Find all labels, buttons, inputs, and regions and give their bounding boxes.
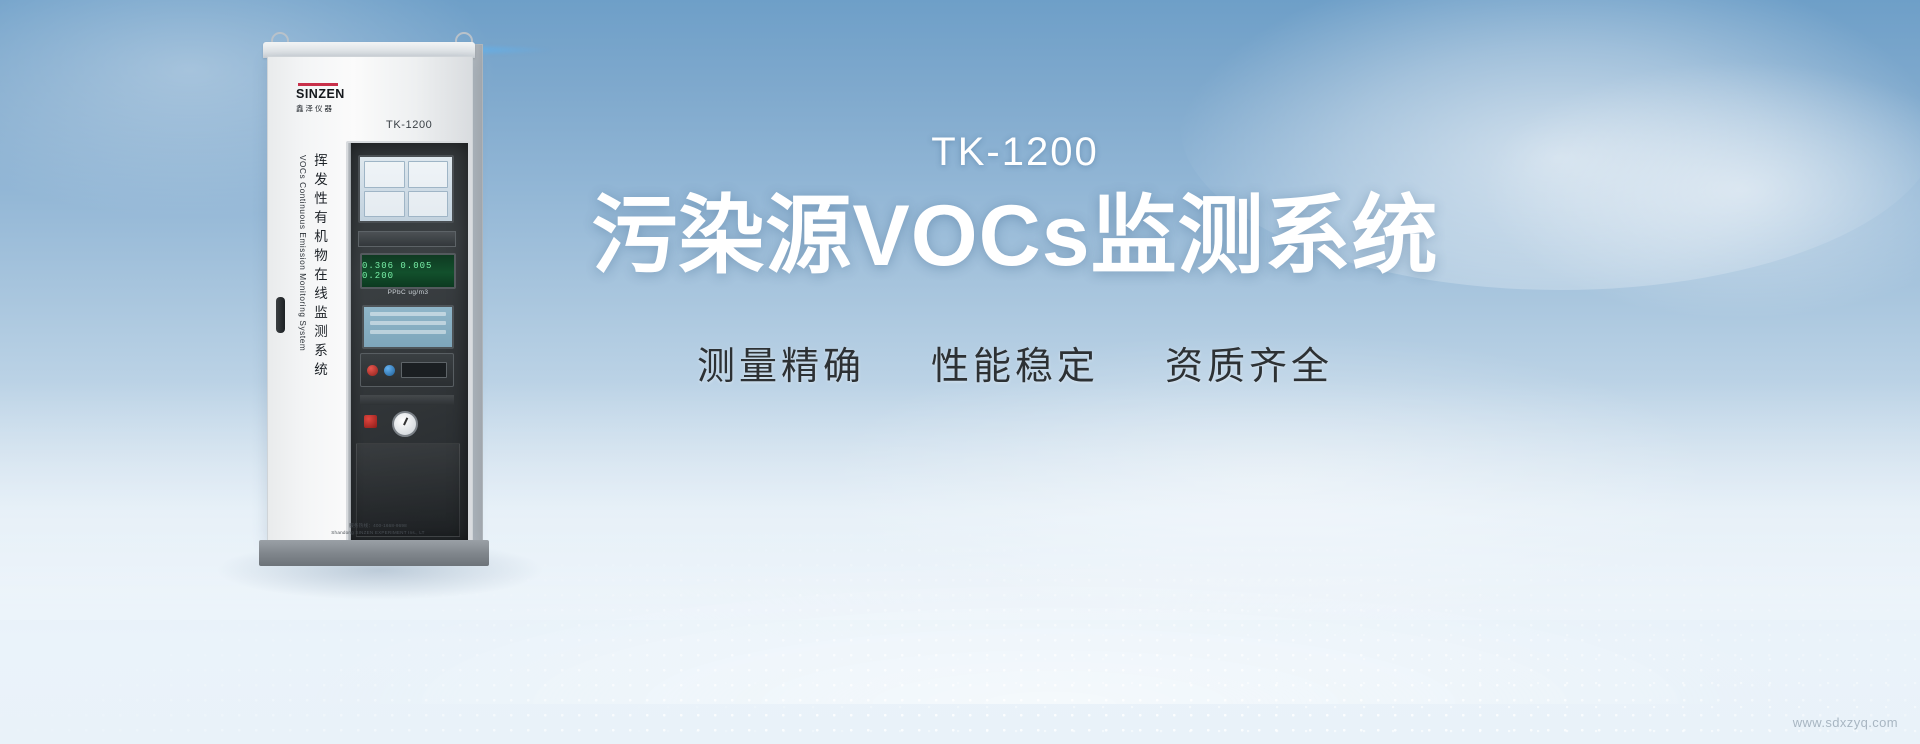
red-knob-icon bbox=[367, 365, 378, 376]
control-display-box bbox=[401, 362, 447, 378]
logo-accent-bar bbox=[298, 83, 338, 86]
banner-feature-2: 性能稳定 bbox=[931, 335, 1099, 390]
cabinet-base-plinth bbox=[259, 540, 489, 566]
banner-text-block: TK-1200 污染源VOCs监测系统 测量精确 性能稳定 资质齐全 bbox=[545, 128, 1485, 390]
cabinet-model-tag: TK-1200 bbox=[386, 119, 432, 131]
banner-headline: 污染源VOCs监测系统 bbox=[545, 184, 1485, 289]
lcd-line bbox=[370, 312, 446, 316]
cabinet-footer-text: 服务热线：400-1668-9698 Shandong SINZEN EXPER… bbox=[290, 523, 466, 537]
secondary-lcd-display bbox=[362, 305, 454, 349]
cabinet-brand-logo: SINZEN 鑫泽仪器 bbox=[296, 83, 366, 114]
readout-unit-label: PPbC ug/m3 bbox=[362, 289, 454, 296]
banner-feature-1: 测量精确 bbox=[697, 335, 865, 390]
product-banner: SINZEN 鑫泽仪器 TK-1200 挥发性有机物在线监测系统 VOCs Co… bbox=[0, 0, 1920, 744]
logo-brand-name-cn: 鑫泽仪器 bbox=[296, 103, 366, 114]
banner-feature-3: 资质齐全 bbox=[1165, 335, 1333, 390]
cloud-glow-right-2 bbox=[1480, 60, 1920, 320]
hmi-cell bbox=[408, 191, 449, 218]
logo-brand-name: SINZEN bbox=[296, 88, 366, 101]
cabinet-instrument-door: 0.306 0.005 0.200 PPbC ug/m3 bbox=[346, 141, 470, 545]
hmi-cell bbox=[364, 161, 405, 188]
green-readout-value: 0.306 0.005 0.200 bbox=[362, 261, 454, 281]
hmi-cell bbox=[364, 191, 405, 218]
hmi-touchscreen bbox=[358, 155, 454, 223]
lcd-line bbox=[370, 330, 446, 334]
banner-feature-list: 测量精确 性能稳定 资质齐全 bbox=[545, 335, 1485, 390]
banner-model-code: TK-1200 bbox=[545, 128, 1485, 176]
emergency-stop-button-icon bbox=[364, 415, 377, 428]
product-cabinet-image: SINZEN 鑫泽仪器 TK-1200 挥发性有机物在线监测系统 VOCs Co… bbox=[255, 20, 505, 580]
control-module bbox=[360, 353, 454, 387]
cabinet-vertical-text-cn: 挥发性有机物在线监测系统 bbox=[309, 153, 329, 381]
door-hinge bbox=[347, 143, 351, 543]
cabinet-footer-line-1: 服务热线：400-1668-9698 bbox=[290, 523, 466, 530]
lcd-line bbox=[370, 321, 446, 325]
site-watermark: www.sdxzyq.com bbox=[1793, 715, 1898, 730]
cabinet-vertical-text-group: 挥发性有机物在线监测系统 VOCs Continuous Emission Mo… bbox=[298, 153, 329, 433]
lower-panel-strip bbox=[360, 395, 454, 405]
cabinet-footer-line-2: Shandong SINZEN EXPERIMENT Ins., LT bbox=[290, 530, 466, 537]
cabinet-vertical-text-en: VOCs Continuous Emission Monitoring Syst… bbox=[298, 155, 307, 351]
pressure-gauge-icon bbox=[392, 411, 418, 437]
hmi-cell bbox=[408, 161, 449, 188]
cabinet-door-handle bbox=[276, 297, 285, 333]
green-readout-display: 0.306 0.005 0.200 bbox=[360, 253, 456, 289]
instrument-panel-strip bbox=[358, 231, 456, 247]
blue-knob-icon bbox=[384, 365, 395, 376]
cabinet-front-panel: SINZEN 鑫泽仪器 TK-1200 挥发性有机物在线监测系统 VOCs Co… bbox=[267, 56, 473, 543]
